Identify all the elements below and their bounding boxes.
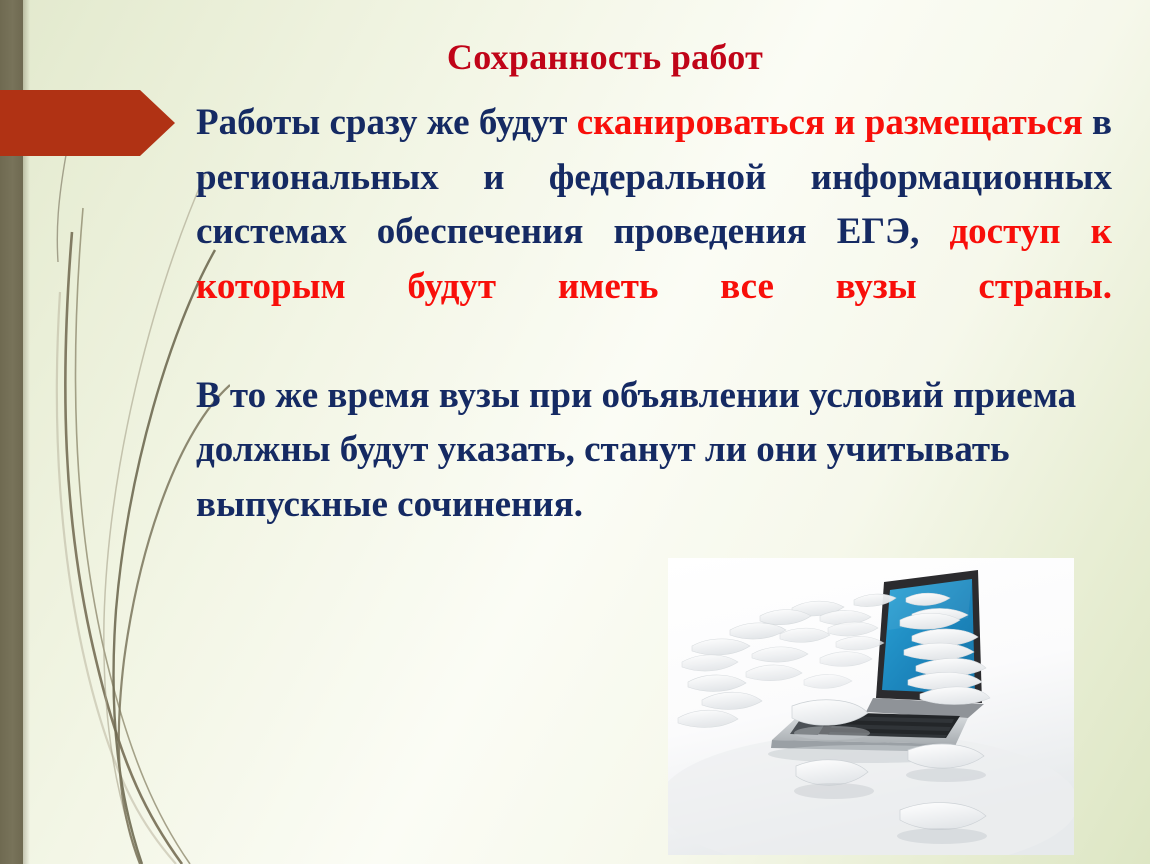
page-title: Сохранность работ bbox=[0, 36, 1150, 78]
para1-segment-1: Работы сразу же будут bbox=[196, 102, 577, 143]
slide-canvas: Сохранность работ Работы сразу же будут … bbox=[0, 0, 1150, 864]
red-arrow-banner bbox=[0, 90, 175, 156]
para2-text: В то же время вузы при объявлении услови… bbox=[196, 375, 1076, 525]
paragraph-1: Работы сразу же будут сканироваться и ра… bbox=[196, 96, 1112, 369]
laptop-papers-image bbox=[668, 558, 1074, 855]
body-text-block: Работы сразу же будут сканироваться и ра… bbox=[196, 96, 1112, 587]
laptop-papers-illustration bbox=[668, 558, 1074, 855]
para1-highlight-1: сканироваться и размещаться bbox=[577, 102, 1083, 143]
paragraph-2: В то же время вузы при объявлении услови… bbox=[196, 369, 1112, 587]
